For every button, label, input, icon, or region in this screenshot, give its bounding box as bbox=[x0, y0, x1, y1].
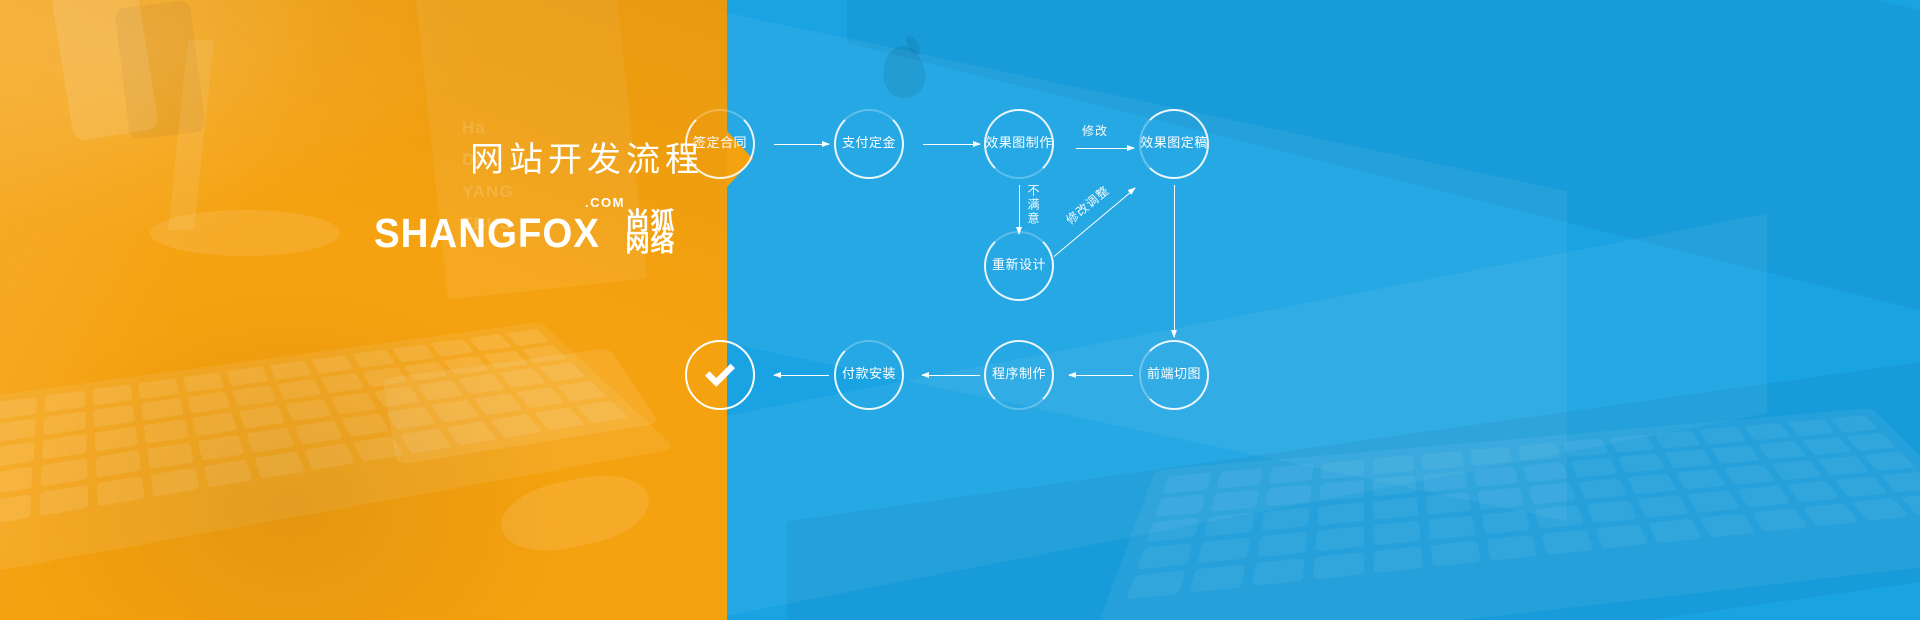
flow-node-label: 支付定金 bbox=[842, 137, 896, 151]
flow-node-complete[interactable] bbox=[685, 340, 755, 410]
flow-node-pay-install[interactable]: 付款安装 bbox=[834, 340, 904, 410]
arrow-frontend-to-program bbox=[1069, 375, 1133, 376]
flow-node-label: 效果图定稿 bbox=[1140, 137, 1208, 151]
flow-node-label: 前端切图 bbox=[1147, 368, 1201, 382]
flow-node-mockup-final[interactable]: 效果图定稿 bbox=[1139, 109, 1209, 179]
arrow-payinstall-to-complete bbox=[774, 375, 829, 376]
website-process-banner: Ha De YANG FBUS 网站开发流程 .COM SHANGFOX 尚狐 … bbox=[0, 0, 1920, 620]
check-icon bbox=[705, 360, 735, 390]
arrow-mockup-to-redesign bbox=[1019, 185, 1020, 234]
flow-node-frontend-cut[interactable]: 前端切图 bbox=[1139, 340, 1209, 410]
arrow-final-to-frontend bbox=[1174, 185, 1175, 337]
arrow-program-to-payinstall bbox=[922, 375, 980, 376]
process-flowchart: 签定合同 支付定金 效果图制作 修改 效果图定稿 不满意 重新设计 修改调整 前… bbox=[0, 0, 1920, 620]
edge-label-revise-adjust: 修改调整 bbox=[1062, 182, 1113, 228]
flow-node-label: 程序制作 bbox=[992, 368, 1046, 382]
flow-node-pay-deposit[interactable]: 支付定金 bbox=[834, 109, 904, 179]
flow-node-label: 签定合同 bbox=[693, 137, 747, 151]
flow-node-label: 重新设计 bbox=[992, 259, 1046, 273]
flow-node-redesign[interactable]: 重新设计 bbox=[984, 231, 1054, 301]
flow-node-label: 效果图制作 bbox=[985, 137, 1053, 151]
arrow-sign-to-deposit bbox=[774, 144, 829, 145]
edge-label-revise: 修改 bbox=[1082, 122, 1108, 139]
flow-node-label: 付款安装 bbox=[842, 368, 896, 382]
flow-node-mockup-design[interactable]: 效果图制作 bbox=[984, 109, 1054, 179]
flow-node-program-build[interactable]: 程序制作 bbox=[984, 340, 1054, 410]
arrow-deposit-to-mockup bbox=[923, 144, 980, 145]
flow-node-sign-contract[interactable]: 签定合同 bbox=[685, 109, 755, 179]
arrow-mockup-to-final bbox=[1076, 148, 1134, 149]
edge-label-unsatisfied: 不满意 bbox=[1025, 184, 1042, 226]
